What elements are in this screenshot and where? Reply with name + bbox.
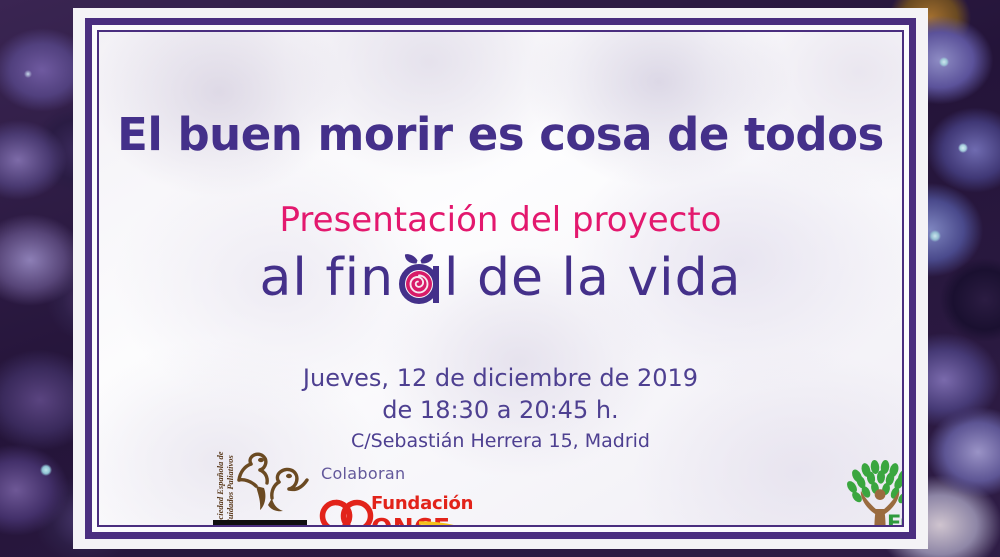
- poster-card-inner-border: El buen morir es cosa de todos Presentac…: [97, 30, 904, 527]
- two-figures-icon: [227, 448, 321, 516]
- project-name-part-2: l de la vida: [444, 248, 741, 308]
- once-line1: Fundación: [371, 494, 473, 514]
- event-details: Jueves, 12 de diciembre de 2019 de 18:30…: [99, 362, 902, 456]
- fundacion-vivo-sano-logo: Fundación Vivo Sano: [841, 460, 904, 527]
- rose-spiral-icon: [395, 252, 443, 304]
- page-title: El buen morir es cosa de todos: [99, 108, 902, 161]
- project-name-part-1: al fin: [259, 248, 394, 308]
- secpal-tagline-line1: Sociedad Española de: [215, 447, 225, 527]
- poster-subtitle: Presentación del proyecto: [99, 200, 902, 240]
- secpal-wordmark: SECPAL: [213, 520, 307, 527]
- event-date: Jueves, 12 de diciembre de 2019: [99, 362, 902, 394]
- interlocking-rings-icon: [319, 496, 377, 527]
- secpal-wordmark-text: SECPAL: [221, 521, 300, 527]
- colaboran-label: Colaboran: [321, 464, 405, 483]
- once-swoosh-icon: [419, 520, 481, 527]
- vivo-sano-line1: Fundación: [887, 512, 904, 527]
- poster-content: El buen morir es cosa de todos Presentac…: [99, 32, 902, 525]
- poster-card-frame: El buen morir es cosa de todos Presentac…: [85, 18, 916, 539]
- fundacion-once-logo: Fundación ONCE: [319, 494, 479, 527]
- project-name: al fin l de la vida: [99, 248, 902, 308]
- secpal-logo: Sociedad Española de Cuidados Paliativos: [199, 448, 321, 527]
- vivo-sano-wordmark: Fundación Vivo Sano: [887, 512, 904, 527]
- poster: El buen morir es cosa de todos Presentac…: [0, 0, 1000, 557]
- event-time: de 18:30 a 20:45 h.: [99, 394, 902, 426]
